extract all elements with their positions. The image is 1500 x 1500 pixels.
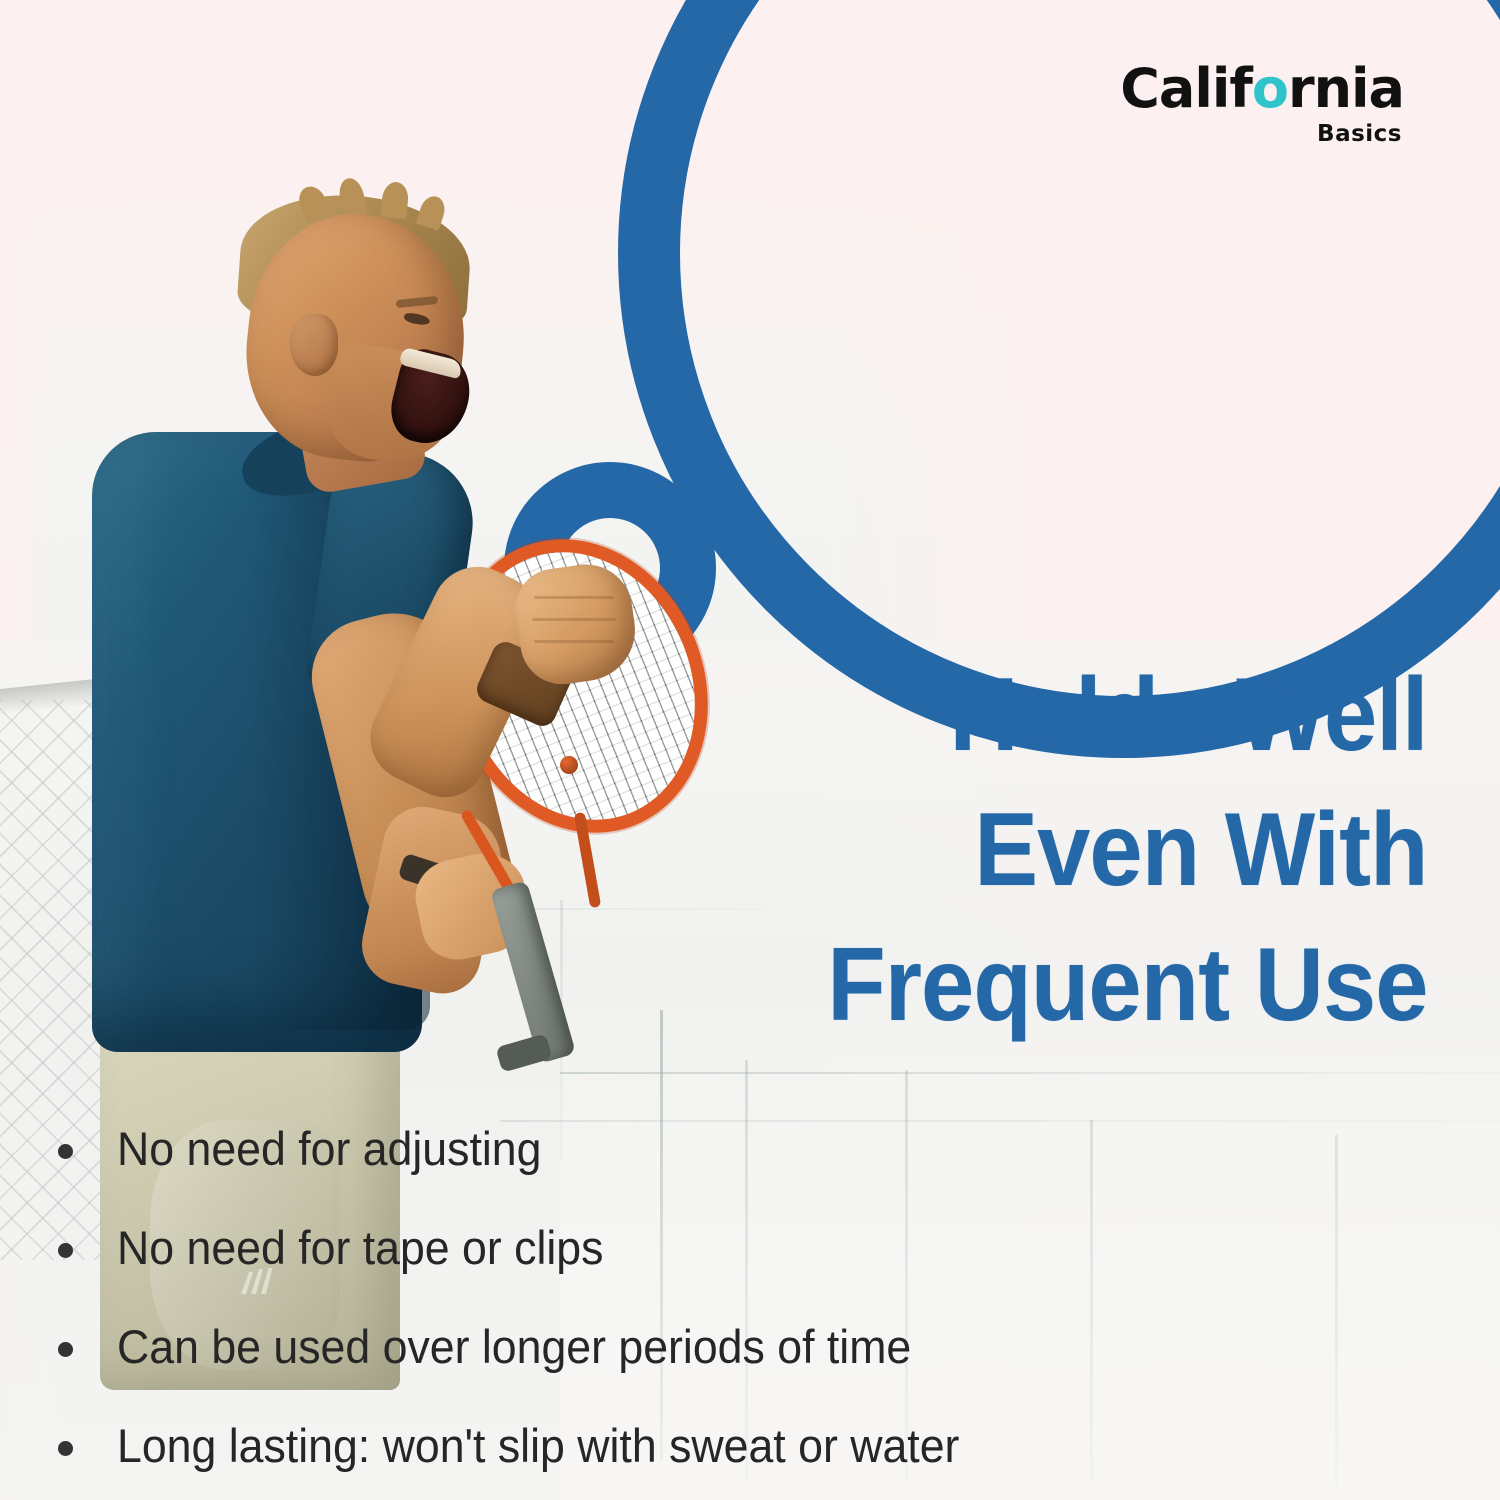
racket-butt-cap <box>495 1033 552 1072</box>
brand-subtitle: Basics <box>1120 123 1402 146</box>
bullet-dot-icon <box>58 1342 73 1357</box>
list-item: Long lasting: won't slip with sweat or w… <box>58 1419 1358 1473</box>
brand-name-part1: Calif <box>1120 57 1252 120</box>
feature-bullet-list: No need for adjusting No need for tape o… <box>58 1122 1358 1473</box>
fist-knuckle-line <box>534 596 614 599</box>
bullet-dot-icon <box>58 1243 73 1258</box>
list-item: No need for tape or clips <box>58 1221 1358 1275</box>
headline: Holds Well Even With Frequent Use <box>828 648 1428 1054</box>
player-ear <box>290 314 338 376</box>
headline-line-1: Holds Well <box>828 648 1428 783</box>
brand-name-part2: rnia <box>1288 57 1404 120</box>
headline-line-2: Even With <box>828 783 1428 918</box>
bullet-text: No need for tape or clips <box>117 1221 603 1275</box>
bullet-text: Can be used over longer periods of time <box>117 1320 911 1374</box>
ad-creative-canvas: California Basics Holds Well Even With F… <box>0 0 1500 1500</box>
bullet-dot-icon <box>58 1441 73 1456</box>
string-dampener <box>560 756 578 774</box>
hair-spike <box>380 181 410 220</box>
brand-name-teal-o: o <box>1252 57 1288 120</box>
headline-line-3: Frequent Use <box>828 918 1428 1053</box>
bullet-text: No need for adjusting <box>117 1122 541 1176</box>
brand-logo[interactable]: California Basics <box>1120 62 1404 146</box>
bullet-dot-icon <box>58 1144 73 1159</box>
fist-knuckle-line <box>534 640 614 643</box>
brand-name: California <box>1120 62 1404 116</box>
bullet-text: Long lasting: won't slip with sweat or w… <box>117 1419 959 1473</box>
list-item: Can be used over longer periods of time <box>58 1320 1358 1374</box>
list-item: No need for adjusting <box>58 1122 1358 1176</box>
fist-knuckle-line <box>532 618 616 621</box>
